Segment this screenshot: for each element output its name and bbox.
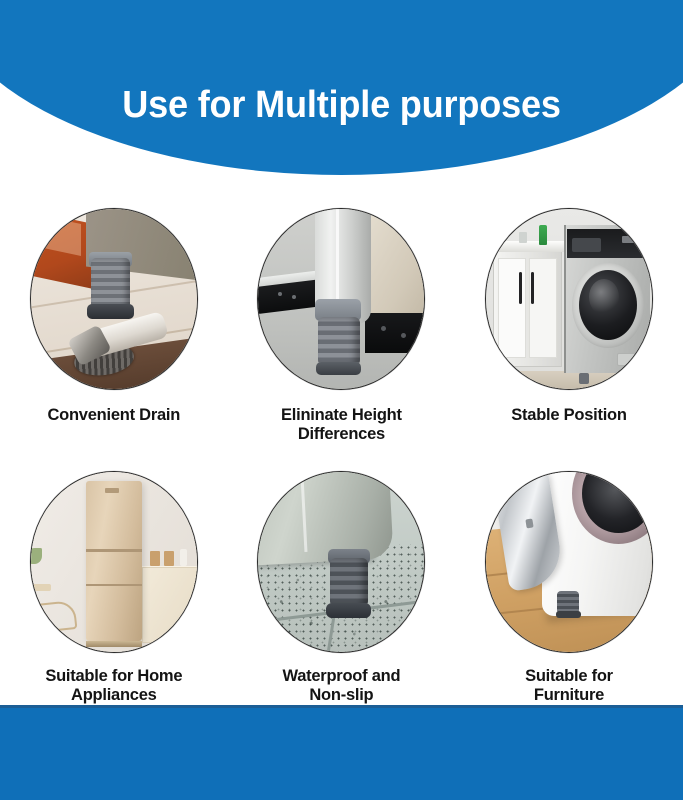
washing-machine-laundry-room-photo xyxy=(485,208,653,390)
appliance-corner-foot-photo xyxy=(257,208,425,390)
feature-cell-eliminate-height-differences: Elininate Height Differences xyxy=(228,208,456,445)
feature-cell-suitable-for-home-appliances: Suitable for Home Appliances xyxy=(0,471,228,706)
gold-refrigerator-kitchen-photo xyxy=(30,471,198,653)
feature-caption: Stable Position xyxy=(511,406,626,425)
product-infographic-page: Use for Multiple purposes xyxy=(0,0,683,800)
feature-cell-stable-position: Stable Position xyxy=(455,208,683,445)
drain-pipe-with-riser-foot-photo xyxy=(30,208,198,390)
feature-caption: Waterproof and Non-slip xyxy=(282,667,400,706)
appliance-foot-on-wet-terrazzo-photo xyxy=(257,471,425,653)
page-title: Use for Multiple purposes xyxy=(17,86,666,126)
feature-grid: Convenient Drain xyxy=(0,208,683,706)
feature-caption: Suitable for Furniture xyxy=(525,667,613,706)
feature-caption: Elininate Height Differences xyxy=(281,406,402,445)
feature-cell-convenient-drain: Convenient Drain xyxy=(0,208,228,445)
feature-cell-waterproof-non-slip: Waterproof and Non-slip xyxy=(228,471,456,706)
footer-blue-bar xyxy=(0,705,683,800)
white-washer-open-door-wood-floor-photo xyxy=(485,471,653,653)
feature-caption: Suitable for Home Appliances xyxy=(45,667,182,706)
feature-cell-suitable-for-furniture: Suitable for Furniture xyxy=(455,471,683,706)
feature-caption: Convenient Drain xyxy=(47,406,180,425)
